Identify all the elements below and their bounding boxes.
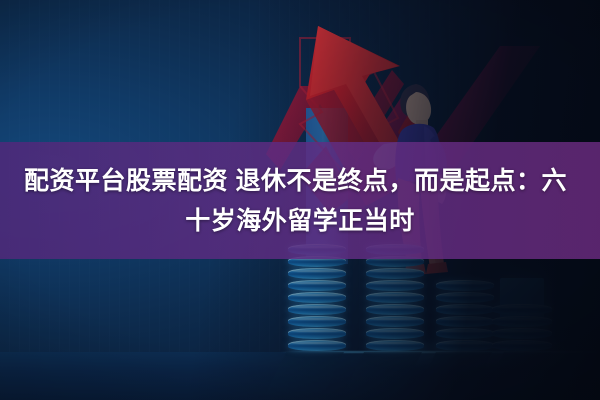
headline-line-1: 配资平台股票配资 退休不是终点，而是起点：六 xyxy=(14,161,567,201)
headline-text: 配资平台股票配资 退休不是终点，而是起点：六 十岁海外留学正当时 xyxy=(0,142,600,259)
headline-line-2: 十岁海外留学正当时 xyxy=(185,201,415,241)
banner-image: 配资平台股票配资 退休不是终点，而是起点：六 十岁海外留学正当时 xyxy=(0,0,600,400)
